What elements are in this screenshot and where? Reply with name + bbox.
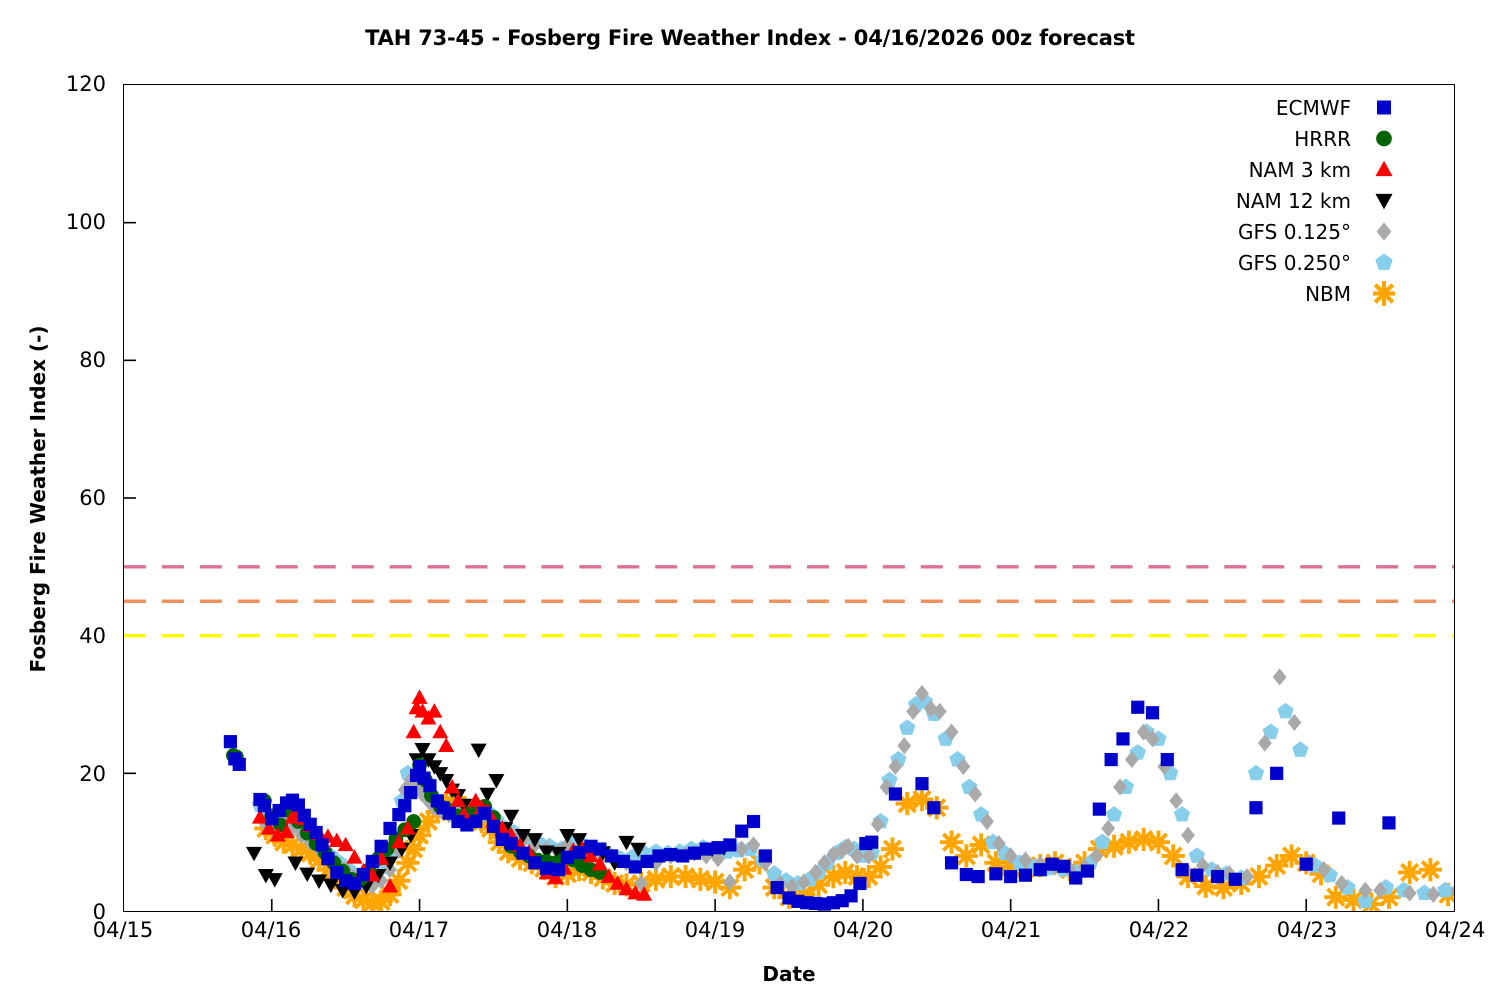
x-tick-label: 04/22 xyxy=(1089,918,1229,942)
data-point xyxy=(1273,668,1287,685)
x-axis-label: Date xyxy=(123,962,1455,986)
x-tick-label: 04/16 xyxy=(201,918,341,942)
fosberg-fire-weather-index-chart: TAH 73-45 - Fosberg Fire Weather Index -… xyxy=(0,0,1500,1000)
data-point xyxy=(853,877,866,890)
data-point xyxy=(267,873,283,887)
data-point xyxy=(413,760,426,773)
x-tick-label: 04/17 xyxy=(349,918,489,942)
x-tick-label: 04/19 xyxy=(645,918,785,942)
legend-item-nam-3-km[interactable]: NAM 3 km xyxy=(1180,154,1395,185)
data-point xyxy=(1248,765,1264,780)
data-point xyxy=(321,852,334,865)
triangle-down-marker-icon xyxy=(1373,185,1395,216)
data-point xyxy=(357,868,370,881)
legend-item-gfs-0-250[interactable]: GFS 0.250° xyxy=(1180,247,1395,278)
data-point xyxy=(972,870,985,883)
data-point xyxy=(398,799,411,812)
data-point xyxy=(1106,806,1122,821)
data-point xyxy=(1069,871,1082,884)
x-tick-label: 04/24 xyxy=(1385,918,1500,942)
x-tick-label: 04/15 xyxy=(53,918,193,942)
diamond-marker-icon xyxy=(1373,216,1395,247)
data-point xyxy=(1249,801,1262,814)
legend-item-label: NBM xyxy=(1305,282,1373,306)
data-point xyxy=(605,849,618,862)
data-point xyxy=(1161,753,1174,766)
data-point xyxy=(1004,870,1017,883)
page-title: TAH 73-45 - Fosberg Fire Weather Index -… xyxy=(0,26,1500,50)
legend-item-gfs-0-125[interactable]: GFS 0.125° xyxy=(1180,216,1395,247)
data-point xyxy=(723,838,736,851)
y-tick-label: 20 xyxy=(26,762,106,786)
data-point xyxy=(346,849,362,863)
data-point xyxy=(641,855,654,868)
x-tick-label: 04/21 xyxy=(941,918,1081,942)
data-point xyxy=(1116,732,1129,745)
data-point xyxy=(899,719,915,734)
data-point xyxy=(505,837,518,850)
legend: ECMWFHRRRNAM 3 kmNAM 12 kmGFS 0.125°GFS … xyxy=(1180,92,1395,309)
data-point xyxy=(735,825,748,838)
data-point xyxy=(488,774,504,788)
data-point xyxy=(945,856,958,869)
data-point xyxy=(927,801,940,814)
data-point xyxy=(540,862,553,875)
data-point xyxy=(573,846,586,859)
legend-item-nbm[interactable]: NBM xyxy=(1180,278,1395,309)
data-point xyxy=(310,826,323,839)
data-point xyxy=(426,703,442,717)
data-point xyxy=(1229,873,1242,886)
data-point xyxy=(1045,858,1058,871)
data-point xyxy=(528,856,541,869)
pentagon-marker-icon xyxy=(1373,247,1395,278)
data-point xyxy=(438,738,454,752)
legend-item-hrrr[interactable]: HRRR xyxy=(1180,123,1395,154)
data-point xyxy=(771,881,784,894)
data-point xyxy=(989,867,1002,880)
data-point xyxy=(471,744,487,758)
data-point xyxy=(561,851,574,864)
data-point xyxy=(1057,860,1070,873)
star-marker-icon xyxy=(1373,278,1395,309)
triangle-up-marker-icon xyxy=(1373,154,1395,185)
data-point xyxy=(688,847,701,860)
x-tick-label: 04/18 xyxy=(497,918,637,942)
y-tick-label: 80 xyxy=(26,348,106,372)
data-point xyxy=(1398,861,1421,884)
data-point xyxy=(664,848,677,861)
x-tick-label: 04/23 xyxy=(1237,918,1377,942)
data-point xyxy=(258,799,271,812)
data-point xyxy=(747,815,760,828)
data-point xyxy=(700,842,713,855)
data-point xyxy=(375,840,388,853)
legend-item-label: GFS 0.250° xyxy=(1238,251,1373,275)
data-point xyxy=(1081,864,1094,877)
data-point xyxy=(1382,816,1395,829)
data-point xyxy=(1131,701,1144,714)
legend-item-label: NAM 12 km xyxy=(1236,189,1373,213)
data-point xyxy=(404,786,417,799)
data-point xyxy=(478,807,491,820)
data-point xyxy=(1270,767,1283,780)
data-point xyxy=(844,889,857,902)
data-point xyxy=(1300,858,1313,871)
legend-item-label: ECMWF xyxy=(1276,96,1373,120)
data-point xyxy=(955,844,978,867)
data-point xyxy=(865,836,878,849)
data-point xyxy=(629,860,642,873)
data-point xyxy=(1019,869,1032,882)
x-tick-label: 04/20 xyxy=(793,918,933,942)
data-point xyxy=(366,855,379,868)
threshold-lines xyxy=(124,567,1454,636)
data-point xyxy=(915,777,928,790)
data-point xyxy=(1105,753,1118,766)
data-point xyxy=(516,847,529,860)
data-point xyxy=(1175,863,1188,876)
data-series-layer xyxy=(224,668,1454,911)
data-point xyxy=(224,735,237,748)
data-point xyxy=(406,724,422,738)
data-point xyxy=(960,868,973,881)
y-tick-label: 100 xyxy=(26,210,106,234)
data-point xyxy=(1292,741,1308,756)
data-point xyxy=(1181,827,1195,844)
data-point xyxy=(1093,803,1106,816)
legend-item-nam-12-km[interactable]: NAM 12 km xyxy=(1180,185,1395,216)
data-point xyxy=(1190,869,1203,882)
data-point xyxy=(412,689,428,703)
data-point xyxy=(1211,870,1224,883)
data-point xyxy=(315,838,328,851)
data-point xyxy=(759,849,772,862)
data-point xyxy=(1146,706,1159,719)
y-tick-label: 60 xyxy=(26,486,106,510)
data-point xyxy=(617,855,630,868)
data-point xyxy=(1034,863,1047,876)
data-point xyxy=(246,847,262,861)
data-point xyxy=(1277,703,1293,718)
circle-marker-icon xyxy=(1373,123,1395,154)
data-point xyxy=(881,837,904,860)
legend-item-label: GFS 0.125° xyxy=(1238,220,1373,244)
y-tick-label: 120 xyxy=(26,72,106,96)
data-point xyxy=(383,822,396,835)
data-point xyxy=(423,779,436,792)
data-point xyxy=(889,787,902,800)
data-point xyxy=(676,849,689,862)
data-point xyxy=(1419,858,1442,881)
y-tick-label: 40 xyxy=(26,624,106,648)
data-point xyxy=(593,842,606,855)
data-point xyxy=(432,724,448,738)
data-point xyxy=(1332,811,1345,824)
legend-item-label: NAM 3 km xyxy=(1249,158,1373,182)
data-point xyxy=(487,820,500,833)
data-point xyxy=(711,841,724,854)
data-point xyxy=(233,758,246,771)
legend-item-ecmwf[interactable]: ECMWF xyxy=(1180,92,1395,123)
data-point xyxy=(652,849,665,862)
data-point xyxy=(552,863,565,876)
square-marker-icon xyxy=(1373,92,1395,123)
legend-item-label: HRRR xyxy=(1294,127,1373,151)
